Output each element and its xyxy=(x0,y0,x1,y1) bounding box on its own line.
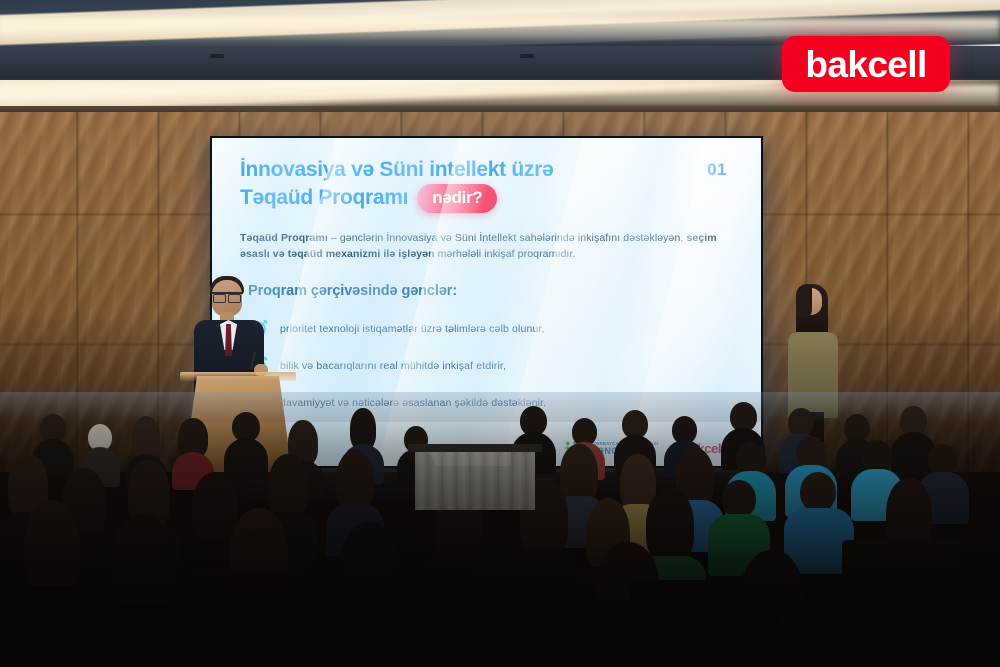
list-item: prioritet texnoloji istiqamətlər üzrə tə… xyxy=(248,310,718,347)
table-top xyxy=(408,444,542,452)
slide-body-text-3: mərhələli inkişaf proqramıdır. xyxy=(435,248,576,260)
glasses-icon xyxy=(212,292,242,299)
table-drape xyxy=(415,450,535,510)
slide-number: 01 xyxy=(707,160,727,180)
list-item-label: prioritet texnoloji istiqamətlər üzrə tə… xyxy=(280,323,545,335)
conference-photo: bakcell 01 İnnovasiya və Süni intellekt … xyxy=(0,0,1000,667)
presenter-tie xyxy=(225,324,232,356)
slide-title-line2: Təqaüd Proqramı xyxy=(240,185,408,212)
slide-title: İnnovasiya və Süni intellekt üzrə Təqaüd… xyxy=(240,157,670,213)
slide-body-text-1: – gənclərin İnnovasiya və Süni İntellekt… xyxy=(328,232,687,244)
nedir-badge: nədir? xyxy=(417,184,497,214)
chair xyxy=(842,540,962,612)
ceiling-spotlight xyxy=(210,54,224,58)
slide-body-paragraph: Təqaüd Proqramı – gənclərin İnnovasiya v… xyxy=(240,230,732,263)
bakcell-logo: bakcell xyxy=(782,36,950,92)
slide-title-line1: İnnovasiya və Süni intellekt üzrə xyxy=(240,157,670,184)
slide-title-row2: Təqaüd Proqramı nədir? xyxy=(240,184,670,214)
chair xyxy=(190,570,310,640)
podium-top xyxy=(180,372,296,381)
host-hair-front xyxy=(796,284,812,318)
list-item: bilik və bacarıqlarını real mühitdə inki… xyxy=(248,347,718,384)
chair xyxy=(630,580,780,652)
seated-audience xyxy=(0,392,1000,667)
ceiling-spotlight xyxy=(520,54,534,58)
list-item-label: bilik və bacarıqlarını real mühitdə inki… xyxy=(280,360,506,372)
slide-body-lead: Təqaüd Proqramı xyxy=(240,232,328,244)
bakcell-logo-text: bakcell xyxy=(805,46,926,83)
